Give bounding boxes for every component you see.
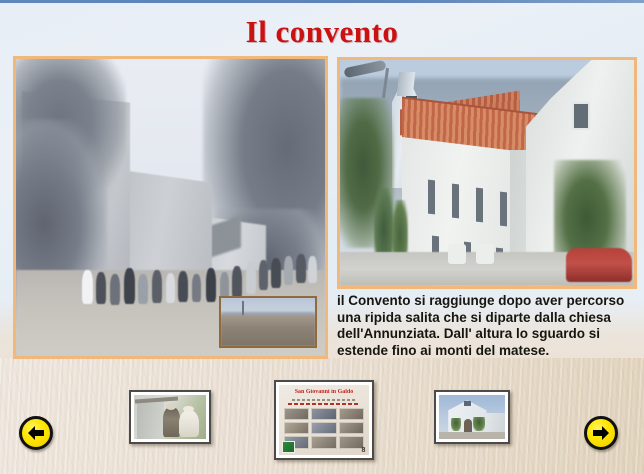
thumb-subtitle-rule [292,399,357,401]
thumb-grid-cell [284,408,309,420]
page-title: Il convento [0,14,644,50]
village-panorama-inset[interactable] [219,296,317,348]
thumb-subtitle-rule-red [288,403,360,405]
photo-chair [476,244,494,264]
inset-tower [242,301,244,316]
thumbnail-image: San Giovanni in Galdo 8 [279,385,369,455]
home-icon [282,441,296,453]
thumb-grid-cell [339,422,364,434]
description-line: dell'Annunziata. Dall' altura lo sguardo… [337,326,639,343]
thumb-grid-cell [311,436,336,448]
thumb-grid-cell [311,422,336,434]
arrow-right-icon [591,425,611,441]
thumbnail-menu-page[interactable]: San Giovanni in Galdo 8 [274,380,374,460]
thumb-grid-cell [284,422,309,434]
thumb-door [137,401,164,439]
next-page-button[interactable] [584,416,618,450]
description-line: il Convento si raggiunge dopo aver perco… [337,293,639,310]
description-line: una ripida salita che si diparte dalla c… [337,310,639,327]
arrow-left-icon [26,425,46,441]
thumb-tree-right [473,417,484,431]
thumb-menu-title: San Giovanni in Galdo [283,389,366,395]
thumb-grid-cell [339,408,364,420]
previous-page-button[interactable] [19,416,53,450]
thumb-figure-left [163,407,180,437]
thumb-bell-gable [464,401,471,406]
thumbnail-image [134,395,206,439]
thumbnail-image [439,395,505,439]
description-text: il Convento si raggiunge dopo aver perco… [337,293,639,359]
photo-chair [448,244,466,264]
inset-rooftops [221,315,315,346]
thumb-ground [439,432,505,439]
thumb-tree-left [451,418,462,431]
thumb-figure-right-head [183,406,194,413]
photo-red-car [566,248,632,282]
street-procession-photo[interactable] [13,56,328,359]
thumb-grid-cell [311,408,336,420]
thumb-image-grid [284,408,363,449]
description-line: estende fino ai monti del matese. [337,343,639,360]
convent-building-photo[interactable] [337,57,637,289]
photo-window [428,180,435,215]
thumb-figure-right [179,410,199,437]
thumbnail-procession-statues[interactable] [129,390,211,444]
photo-tower-spire [397,72,416,96]
thumb-page-number: 8 [362,447,366,454]
thumbnail-church-facade[interactable] [434,390,510,444]
presentation-slide: Il convento [0,0,644,474]
thumb-grid-cell [339,436,364,448]
top-border-line [0,0,644,3]
photo-right-building-window [572,102,590,130]
photo-window [500,192,507,227]
photo-window [452,184,459,219]
photo-window [476,188,483,223]
